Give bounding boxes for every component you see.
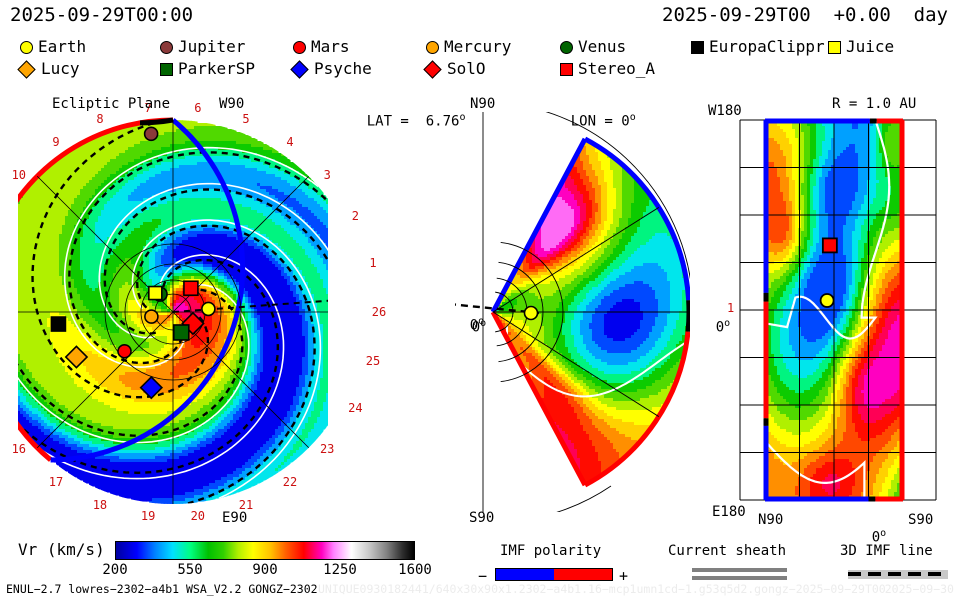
legend-label: Psyche <box>314 61 372 77</box>
imf-3d-line-dash <box>848 572 948 576</box>
ecliptic-plane-panel: 1234567891011121314151617181920212223242… <box>18 112 328 512</box>
meridional-panel <box>455 112 690 512</box>
marker-circle-icon <box>560 41 573 54</box>
ecliptic-radial-label: 10 <box>12 168 26 182</box>
legend-row: EarthJupiterMarsMercuryVenusEuropaClippr… <box>8 36 952 58</box>
ecliptic-axis-bottom: E90 <box>222 510 247 526</box>
ecliptic-radial-label: 16 <box>12 442 26 456</box>
current-sheath-line-bottom <box>692 576 787 580</box>
legend-label: EuropaClippr <box>709 39 825 55</box>
colorbar-tick: 900 <box>252 562 277 578</box>
legend-item-stereo_a[interactable]: Stereo_A <box>560 58 655 80</box>
legend-label: Venus <box>578 39 626 55</box>
colorbar-tick: 200 <box>102 562 127 578</box>
timestamp-left: 2025-09-29T00:00 <box>10 4 193 26</box>
footer-watermark-date: 2025−09−30 <box>885 582 954 596</box>
ecliptic-radial-label: 25 <box>366 354 380 368</box>
carrington-map-plot <box>720 112 950 512</box>
legend-item-juice[interactable]: Juice <box>828 36 894 58</box>
legend-label: Juice <box>846 39 894 55</box>
colorbar-tick: 550 <box>177 562 202 578</box>
current-sheath-title: Current sheath <box>668 543 786 559</box>
colorbar-label: Vr (km/s) <box>18 540 105 559</box>
current-sheath-line-top <box>692 568 787 572</box>
body-marker-parkersp[interactable] <box>174 325 189 340</box>
ecliptic-radial-label: 4 <box>286 135 293 149</box>
ecliptic-radial-label: 24 <box>348 401 362 415</box>
timestamp-right: 2025-09-29T00 +0.00 day <box>662 4 948 26</box>
body-marker-juice[interactable] <box>149 287 162 300</box>
meridional-contour-field <box>493 140 689 486</box>
marker-square-icon <box>691 41 704 54</box>
marker-circle-icon <box>426 41 439 54</box>
carrington-axis-top: W180 <box>708 103 742 119</box>
ecliptic-radial-label: 1 <box>369 256 376 270</box>
imf-3d-line-title: 3D IMF line <box>840 543 933 559</box>
meridional-plot <box>455 112 690 512</box>
ecliptic-radial-label: 8 <box>96 112 103 126</box>
footer-model-info: ENUL−2.7 lowres−2302−a4b1 WSA_V2.2 GONGZ… <box>6 582 318 596</box>
legend-item-mars[interactable]: Mars <box>293 36 350 58</box>
marker-diamond-icon <box>290 60 308 78</box>
legend-label: Stereo_A <box>578 61 655 77</box>
legend-item-earth[interactable]: Earth <box>20 36 86 58</box>
legend-item-venus[interactable]: Venus <box>560 36 626 58</box>
body-marker-mars[interactable] <box>118 345 131 358</box>
body-marker-earth[interactable] <box>525 307 538 320</box>
legend-item-jupiter[interactable]: Jupiter <box>160 36 245 58</box>
ecliptic-radial-label: 2 <box>352 209 359 223</box>
carrington-map-panel <box>720 112 950 512</box>
footer-watermark: UNIQUE0930182441/640x30x90x1.2302−a4b1.1… <box>318 582 886 596</box>
ecliptic-radial-label: 20 <box>191 509 205 523</box>
lat-value: LAT = 6.76 <box>367 114 460 130</box>
legend-item-lucy[interactable]: Lucy <box>20 58 80 80</box>
legend-label: Jupiter <box>178 39 245 55</box>
legend-item-parkersp[interactable]: ParkerSP <box>160 58 255 80</box>
body-marker-earth[interactable] <box>202 302 215 315</box>
marker-diamond-icon <box>423 60 441 78</box>
marker-square-icon <box>828 41 841 54</box>
body-marker-mercury[interactable] <box>145 310 158 323</box>
marker-square-icon <box>160 63 173 76</box>
body-marker-earth[interactable] <box>821 294 834 307</box>
ecliptic-radial-label: 6 <box>194 101 201 115</box>
ecliptic-radial-label: 23 <box>320 442 334 456</box>
legend-item-europaclippr[interactable]: EuropaClippr <box>691 36 825 58</box>
marker-circle-icon <box>293 41 306 54</box>
carrington-axis-left-bottom: N90 <box>758 512 783 528</box>
legend-label: SolO <box>447 61 486 77</box>
ecliptic-radial-label: 18 <box>93 498 107 512</box>
body-legend: EarthJupiterMarsMercuryVenusEuropaClippr… <box>8 36 952 80</box>
marker-circle-icon <box>160 41 173 54</box>
legend-row: LucyParkerSPPsycheSolOStereo_A <box>8 58 952 80</box>
ecliptic-radial-label: 22 <box>283 475 297 489</box>
ecliptic-radial-label: 26 <box>372 305 386 319</box>
imf-polarity-title: IMF polarity <box>500 543 601 559</box>
legend-label: Lucy <box>41 61 80 77</box>
body-marker-stereo_a[interactable] <box>184 281 198 295</box>
ecliptic-plane-plot <box>18 112 328 512</box>
legend-label: ParkerSP <box>178 61 255 77</box>
ecliptic-axis-top: W90 <box>219 96 244 112</box>
body-marker-stereo_a[interactable] <box>823 238 837 252</box>
imf-polarity-bar <box>495 568 613 581</box>
ecliptic-lat-label: LAT = 6.76o <box>333 96 465 146</box>
legend-label: Mercury <box>444 39 511 55</box>
meridional-caption: LON = 0o <box>537 96 636 146</box>
legend-item-psyche[interactable]: Psyche <box>293 58 372 80</box>
legend-label: Mars <box>311 39 350 55</box>
ecliptic-caption: Ecliptic Plane <box>52 96 170 112</box>
colorbar-gradient <box>115 541 415 560</box>
meridional-axis-bottom: S90 <box>469 510 494 526</box>
ecliptic-radial-label: 3 <box>324 168 331 182</box>
ecliptic-radial-label: 5 <box>242 112 249 126</box>
meridional-axis-left: 0o <box>438 302 486 352</box>
marker-square-icon <box>560 63 573 76</box>
ecliptic-radial-label: 19 <box>141 509 155 523</box>
carrington-axis-bottom: E180 <box>712 504 746 520</box>
marker-diamond-icon <box>17 60 35 78</box>
colorbar-tick: 1600 <box>398 562 432 578</box>
body-marker-europaclippr[interactable] <box>51 317 65 331</box>
ecliptic-radial-label: 9 <box>52 135 59 149</box>
legend-item-solo[interactable]: SolO <box>426 58 486 80</box>
legend-item-mercury[interactable]: Mercury <box>426 36 511 58</box>
carrington-caption: R = 1.0 AU <box>832 96 916 112</box>
legend-label: Earth <box>38 39 86 55</box>
meridional-axis-top: N90 <box>470 96 495 112</box>
carrington-row-label: 1 <box>727 301 734 315</box>
ecliptic-radial-label: 17 <box>49 475 63 489</box>
carrington-axis-right-bottom: S90 <box>908 512 933 528</box>
body-marker-jupiter[interactable] <box>145 127 158 140</box>
marker-circle-icon <box>20 41 33 54</box>
colorbar-tick: 1250 <box>323 562 357 578</box>
